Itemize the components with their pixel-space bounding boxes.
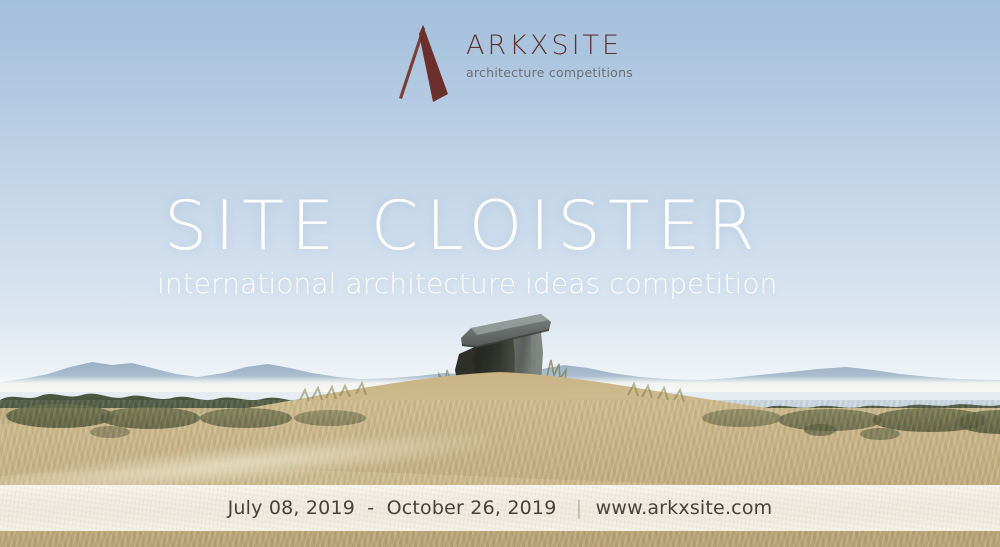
page-subtitle: international architecture ideas competi… bbox=[0, 269, 1000, 300]
date-range-dash: - bbox=[367, 497, 374, 519]
logo-tagline: architecture competitions bbox=[466, 67, 633, 80]
logo-wordmark: ARKXSITE bbox=[466, 32, 633, 59]
competition-end-date: October 26, 2019 bbox=[387, 497, 557, 519]
page-title: SITE CLOISTER bbox=[0, 192, 1000, 263]
hero-text-block: SITE CLOISTER international architecture… bbox=[0, 192, 1000, 300]
competition-start-date: July 08, 2019 bbox=[228, 497, 355, 519]
competition-poster: ARKXSITE architecture competitions SITE … bbox=[0, 0, 1000, 547]
footer-divider: | bbox=[569, 497, 590, 519]
website-url[interactable]: www.arkxsite.com bbox=[596, 497, 773, 519]
logo-text-block: ARKXSITE architecture competitions bbox=[466, 22, 633, 80]
footer-text: July 08, 2019 - October 26, 2019 | www.a… bbox=[228, 497, 773, 519]
footer-info-bar: July 08, 2019 - October 26, 2019 | www.a… bbox=[0, 485, 1000, 531]
arkxsite-a-mark bbox=[392, 22, 452, 106]
arkxsite-logo[interactable]: ARKXSITE architecture competitions bbox=[392, 22, 633, 106]
